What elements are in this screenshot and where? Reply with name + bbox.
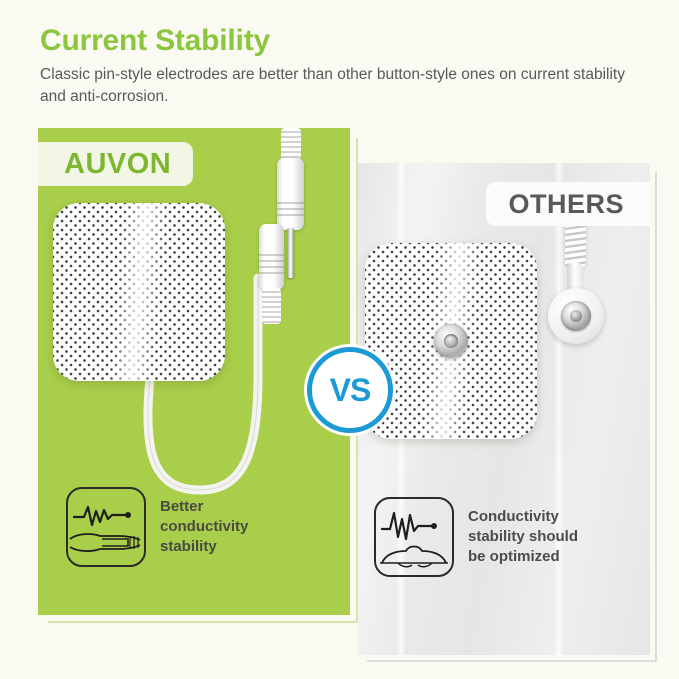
others-drawback-caption: Conductivity stability should be optimiz…	[374, 497, 578, 577]
caption-line: Conductivity	[468, 507, 578, 527]
ecg-pin-connector-icon	[66, 487, 146, 567]
auvon-electrode-pad	[53, 203, 225, 381]
ecg-snap-button-icon	[374, 497, 454, 577]
infographic-page: Current Stability Classic pin-style elec…	[0, 0, 679, 679]
auvon-caption-text: Better conductivity stability	[160, 497, 248, 556]
others-electrode-pad	[365, 243, 537, 439]
cable-strain-relief	[281, 128, 301, 160]
panel-streak	[554, 163, 564, 655]
caption-line: stability	[160, 537, 248, 557]
brand-label-others: OTHERS	[486, 182, 650, 226]
connector-socket-barrel	[259, 224, 284, 290]
snap-socket	[561, 301, 591, 331]
versus-label: VS	[330, 372, 371, 409]
versus-badge: VS	[307, 347, 393, 433]
brand-label-auvon-text: AUVON	[64, 148, 171, 181]
caption-line: Better	[160, 497, 248, 517]
pad-highlight	[53, 203, 225, 381]
connector-barrel	[277, 158, 304, 230]
brand-label-others-text: OTHERS	[508, 189, 624, 220]
caption-line: be optimized	[468, 547, 578, 567]
page-subtitle: Classic pin-style electrodes are better …	[40, 64, 640, 108]
others-caption-text: Conductivity stability should be optimiz…	[468, 507, 578, 566]
snap-button-stud	[434, 324, 468, 358]
header: Current Stability Classic pin-style elec…	[40, 24, 650, 108]
socket-strain-relief	[262, 288, 281, 324]
caption-line: conductivity	[160, 517, 248, 537]
brand-label-auvon: AUVON	[38, 142, 193, 186]
metal-pin-tip	[287, 228, 294, 278]
lead-head	[548, 288, 604, 344]
caption-line: stability should	[468, 527, 578, 547]
page-title: Current Stability	[40, 24, 650, 57]
auvon-benefit-caption: Better conductivity stability	[66, 487, 248, 567]
